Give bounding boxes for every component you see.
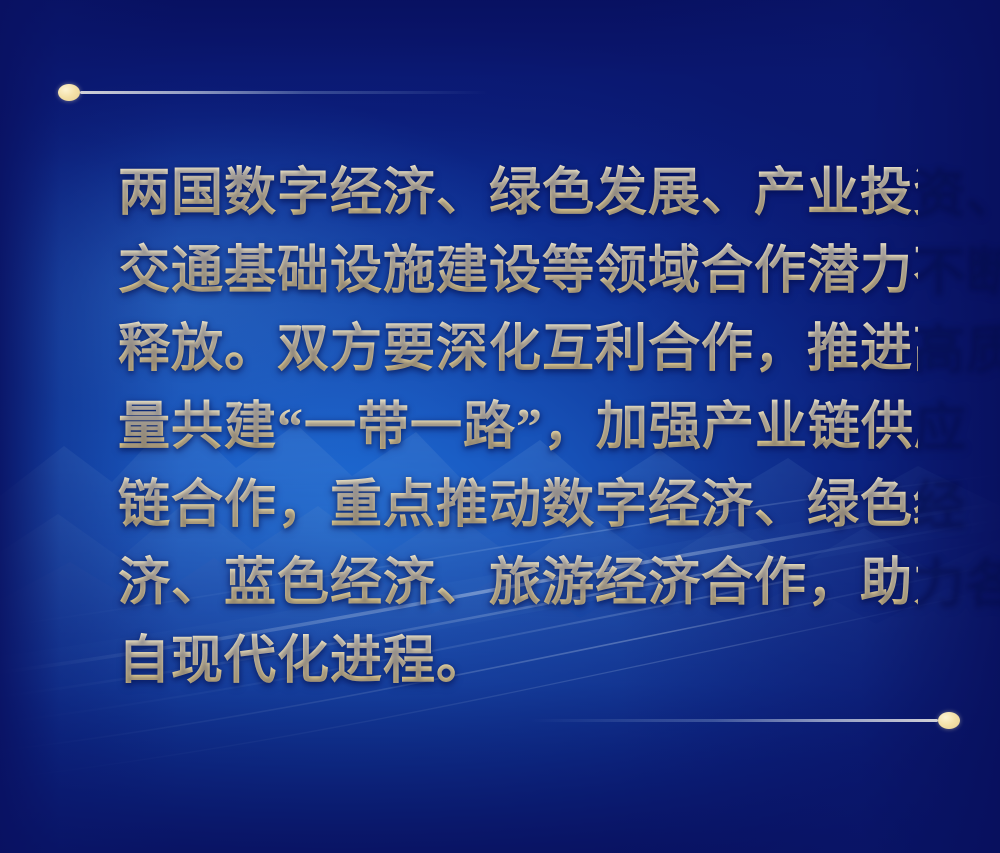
decorative-rule-bottom <box>530 711 960 729</box>
quote-line: 量共建“一带一路”，加强产业链供应 <box>118 389 918 467</box>
quote-card: 两国数字经济、绿色发展、产业投资、 交通基础设施建设等领域合作潜力不断 释放。双… <box>0 0 1000 853</box>
decorative-line <box>80 91 488 94</box>
quote-line: 济、蓝色经济、旅游经济合作，助力各 <box>118 545 918 623</box>
decorative-rule-top <box>58 83 488 101</box>
gold-dot-icon <box>58 84 80 101</box>
gold-dot-icon <box>938 712 960 729</box>
quote-line: 链合作，重点推动数字经济、绿色经 <box>118 467 918 545</box>
decorative-line <box>530 719 938 722</box>
quote-line: 交通基础设施建设等领域合作潜力不断 <box>118 233 918 311</box>
quote-text-block: 两国数字经济、绿色发展、产业投资、 交通基础设施建设等领域合作潜力不断 释放。双… <box>118 155 918 701</box>
quote-line: 释放。双方要深化互利合作，推进高质 <box>118 311 918 389</box>
quote-line: 两国数字经济、绿色发展、产业投资、 <box>118 155 918 233</box>
quote-line: 自现代化进程。 <box>118 623 918 701</box>
